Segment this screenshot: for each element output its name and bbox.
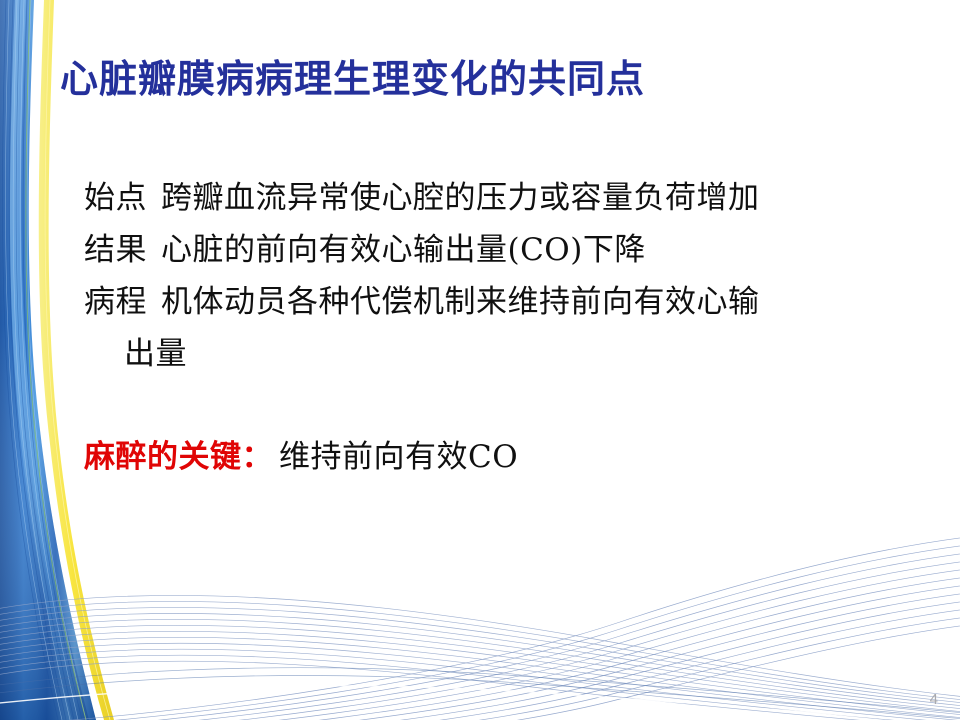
body-line-text: 跨瓣血流异常使心腔的压力或容量负荷增加 [161, 180, 760, 216]
body-line-lead: 结果 [84, 232, 147, 268]
bottom-wave-decoration [0, 490, 960, 720]
key-point-line: 麻醉的关键：维持前向有效CO [84, 434, 518, 480]
body-line: 始点跨瓣血流异常使心腔的压力或容量负荷增加 [84, 172, 924, 224]
body-line-lead: 始点 [84, 180, 147, 216]
body-line-continuation: 出量 [84, 328, 924, 380]
key-point-label: 麻醉的关键： [84, 439, 273, 475]
body-content: 始点跨瓣血流异常使心腔的压力或容量负荷增加 结果心脏的前向有效心输出量(CO)下… [84, 172, 924, 380]
page-title: 心脏瓣膜病病理生理变化的共同点 [60, 57, 920, 101]
body-line: 病程机体动员各种代偿机制来维持前向有效心输 [84, 276, 924, 328]
key-point-value: 维持前向有效CO [279, 439, 518, 475]
page-number: 4 [930, 691, 938, 708]
slide-canvas: 心脏瓣膜病病理生理变化的共同点 始点跨瓣血流异常使心腔的压力或容量负荷增加 结果… [0, 0, 960, 720]
body-line-text: 机体动员各种代偿机制来维持前向有效心输 [161, 284, 760, 320]
body-line-text: 心脏的前向有效心输出量(CO)下降 [161, 232, 646, 268]
body-line: 结果心脏的前向有效心输出量(CO)下降 [84, 224, 924, 276]
body-line-lead: 病程 [84, 284, 147, 320]
